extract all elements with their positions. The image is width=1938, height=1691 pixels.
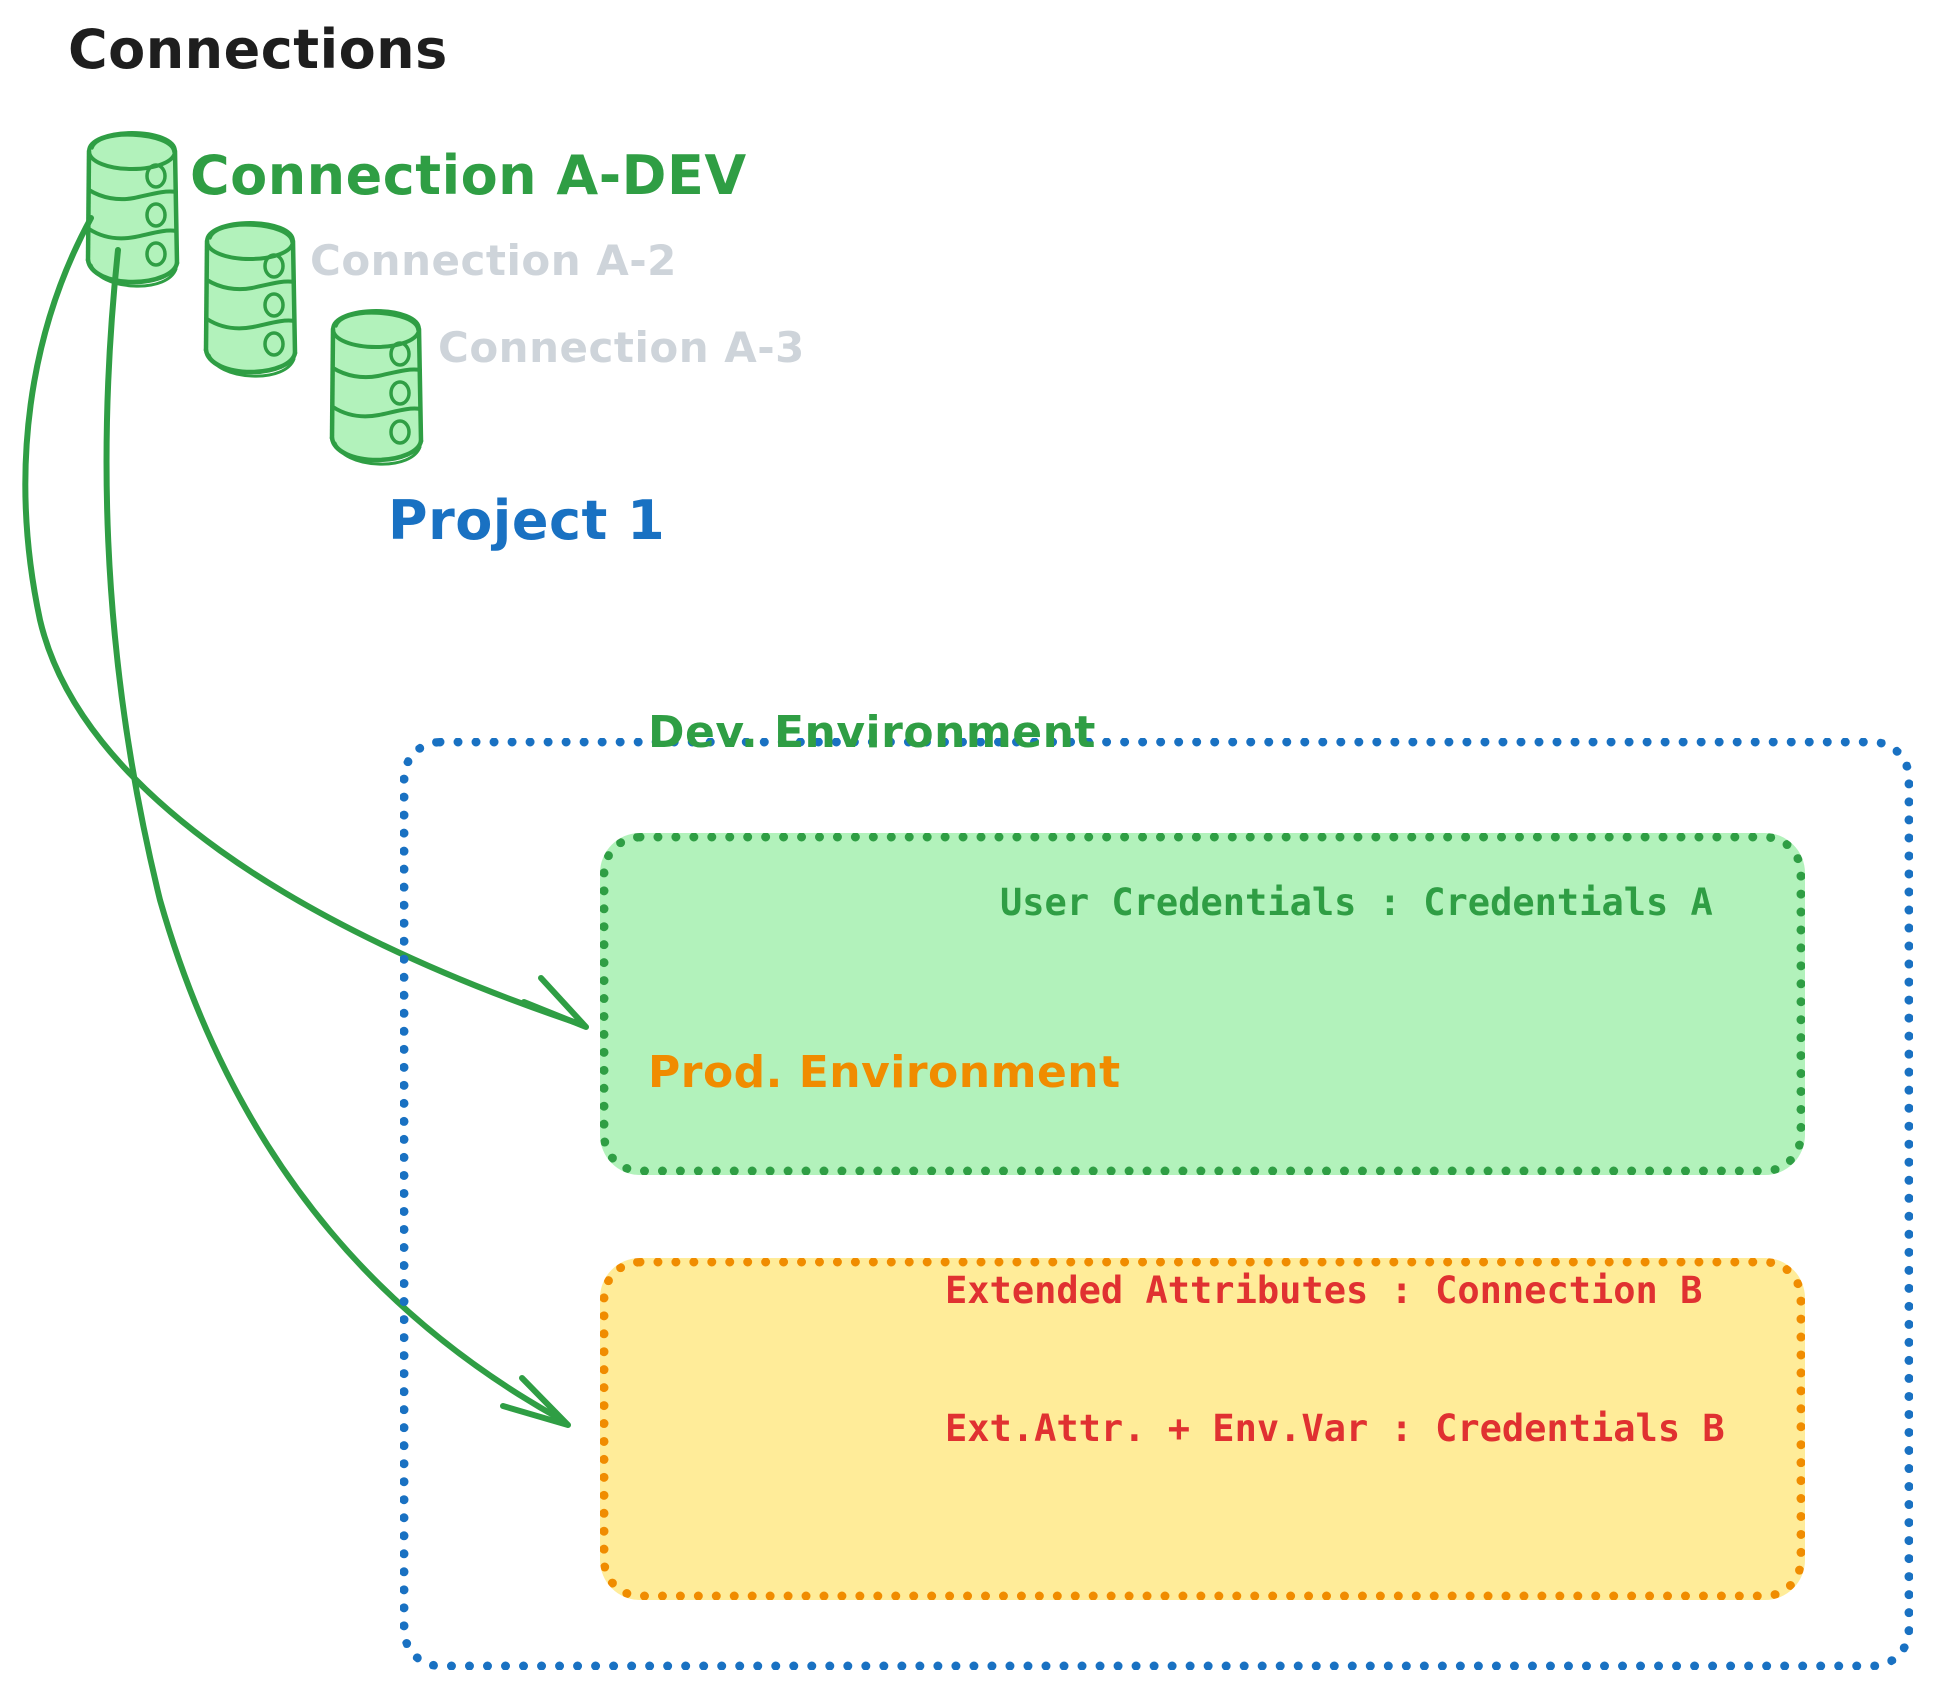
dev-environment-credentials-row: User Credentials : Credentials A: [1000, 880, 1713, 926]
prod-environment-title: Prod. Environment: [648, 1045, 1121, 1100]
dev-environment-title: Dev. Environment: [648, 705, 1096, 760]
database-icon-connection-a-dev[interactable]: [88, 133, 177, 286]
prod-environment-rows: Extended Attributes : Connection B Ext.A…: [945, 1175, 1725, 1545]
database-icon-connection-a-3[interactable]: [332, 311, 421, 464]
prod-environment-row-ext-attr-env-var: Ext.Attr. + Env.Var : Credentials B: [945, 1406, 1725, 1452]
prod-environment-row-extended-attributes: Extended Attributes : Connection B: [945, 1268, 1725, 1314]
database-icon-connection-a-2[interactable]: [206, 223, 295, 376]
connection-label-a-2[interactable]: Connection A-2: [310, 235, 677, 288]
page-title: Connections: [68, 16, 448, 84]
diagram-canvas: Connections Connection A-DEV Connection …: [0, 0, 1938, 1691]
project-label: Project 1: [388, 487, 665, 555]
connection-label-a-dev[interactable]: Connection A-DEV: [190, 142, 747, 210]
connection-label-a-3[interactable]: Connection A-3: [438, 322, 805, 375]
